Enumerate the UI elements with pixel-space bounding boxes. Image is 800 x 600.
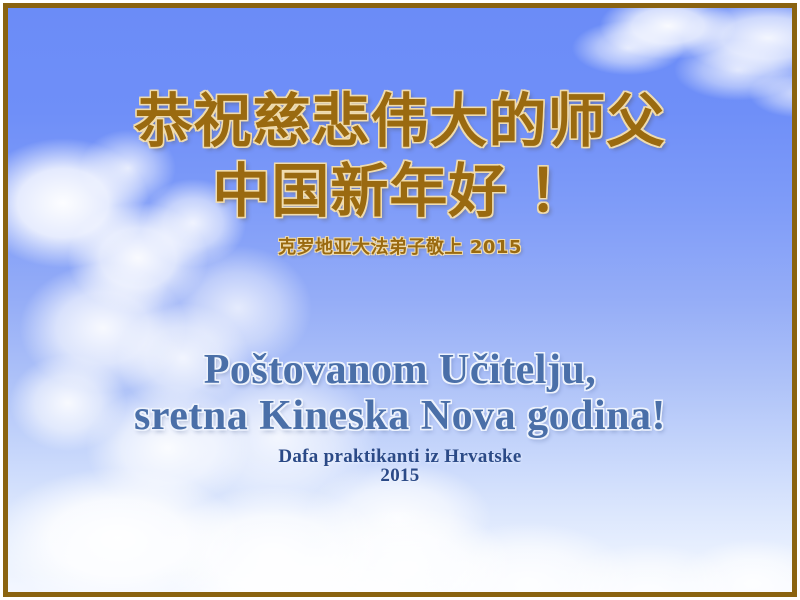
chinese-signature: 克罗地亚大法弟子敬上 2015: [8, 236, 792, 260]
card-border-frame: 恭祝慈悲伟大的师父 中国新年好 ！ 克罗地亚大法弟子敬上 2015 Poštov…: [3, 3, 797, 597]
greeting-card: 恭祝慈悲伟大的师父 中国新年好 ！ 克罗地亚大法弟子敬上 2015 Poštov…: [0, 0, 800, 600]
chinese-title-line-2: 中国新年好 ！: [8, 156, 792, 226]
croatian-title-line-2: sretna Kineska Nova godina!: [8, 391, 792, 441]
croatian-signature-year: 2015: [8, 464, 792, 487]
croatian-title-line-1: Poštovanom Učitelju,: [8, 345, 792, 395]
chinese-title-line-1: 恭祝慈悲伟大的师父: [8, 86, 792, 156]
card-content: 恭祝慈悲伟大的师父 中国新年好 ！ 克罗地亚大法弟子敬上 2015 Poštov…: [8, 8, 792, 592]
